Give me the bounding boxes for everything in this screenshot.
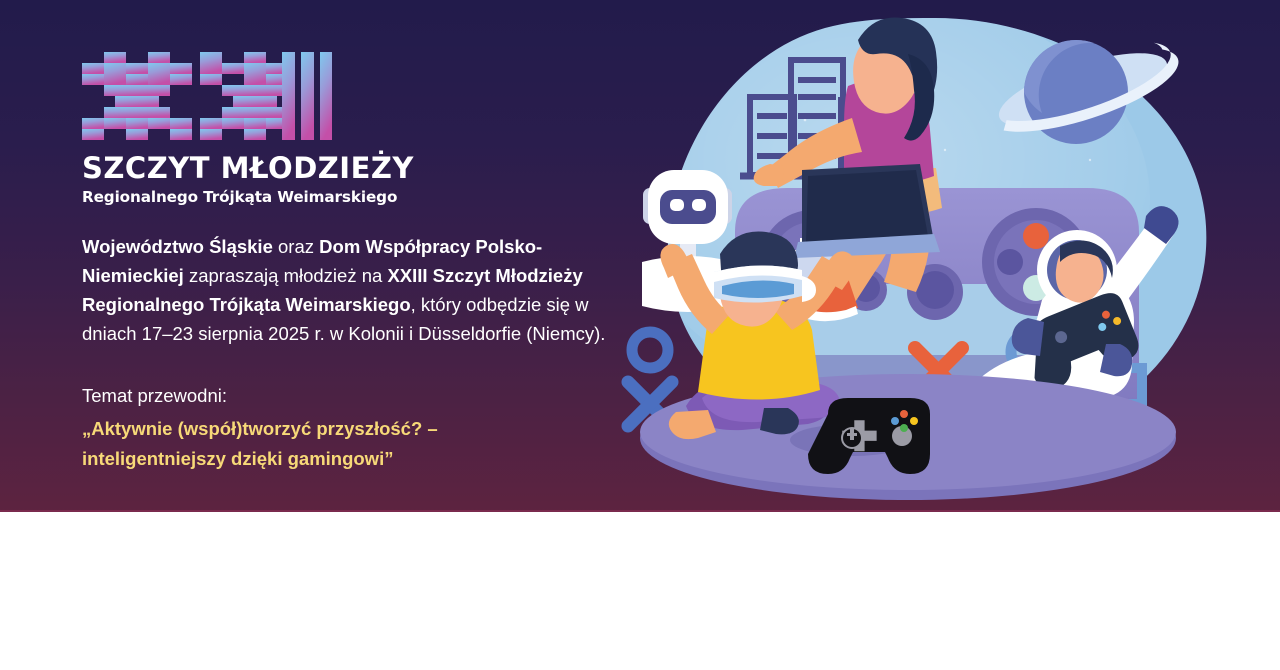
logo-title: SZCZYT MŁODZIEŻY xyxy=(82,154,362,183)
intro-segment-1: oraz xyxy=(273,236,319,257)
summit-logo: SZCZYT MŁODZIEŻY Regionalnego Trójkąta W… xyxy=(82,52,362,205)
intro-segment-3: zapraszają młodzież na xyxy=(184,265,388,286)
hero-section: SZCZYT MŁODZIEŻY Regionalnego Trójkąta W… xyxy=(0,0,1280,512)
hero-copy: Województwo Śląskie oraz Dom Współpracy … xyxy=(82,232,612,474)
poster-page: SZCZYT MŁODZIEŻY Regionalnego Trójkąta W… xyxy=(0,0,1280,670)
button-red xyxy=(1023,223,1049,249)
theme-quote-line-2: inteligentniejszy dzięki gamingowi” xyxy=(82,444,612,474)
intro-paragraph: Województwo Śląskie oraz Dom Współpracy … xyxy=(82,232,612,348)
theme-quote-line-1: „Aktywnie (współ)tworzyć przyszłość? – xyxy=(82,414,612,444)
symbol-circle-left xyxy=(632,332,668,368)
xxiii-pixel-mark xyxy=(82,52,332,140)
theme-label: Temat przewodni: xyxy=(82,382,612,410)
hero-illustration xyxy=(590,0,1280,512)
footer-section: Organizator: xyxy=(0,512,1280,670)
button-purple xyxy=(997,249,1023,275)
theme-quote: „Aktywnie (współ)tworzyć przyszłość? – i… xyxy=(82,414,612,474)
intro-segment-0: Województwo Śląskie xyxy=(82,236,273,257)
logo-subtitle: Regionalnego Trójkąta Weimarskiego xyxy=(82,190,362,205)
